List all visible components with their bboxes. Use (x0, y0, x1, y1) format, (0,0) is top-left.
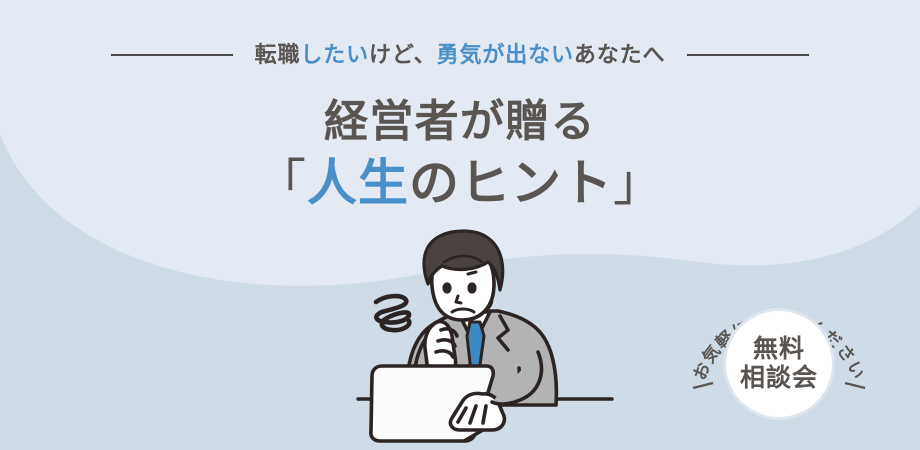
badge-circle[interactable]: 無料 相談会 (723, 308, 835, 420)
arc-tick-left (693, 383, 713, 388)
arc-tick-right (845, 383, 865, 388)
badge-line-1: 無料 (753, 335, 805, 365)
eye-left (442, 282, 451, 293)
badge-line-2: 相談会 (740, 364, 818, 394)
eyebrow-right (468, 272, 476, 274)
free-consultation-badge[interactable]: お気軽にご参加ください 無料 相談会 (683, 268, 875, 444)
promo-banner: 転職したいけど、勇気が出ないあなたへ 経営者が贈る 「人生のヒント」 (0, 0, 920, 450)
eye-right (467, 282, 476, 293)
worry-scribble-icon (376, 296, 409, 330)
